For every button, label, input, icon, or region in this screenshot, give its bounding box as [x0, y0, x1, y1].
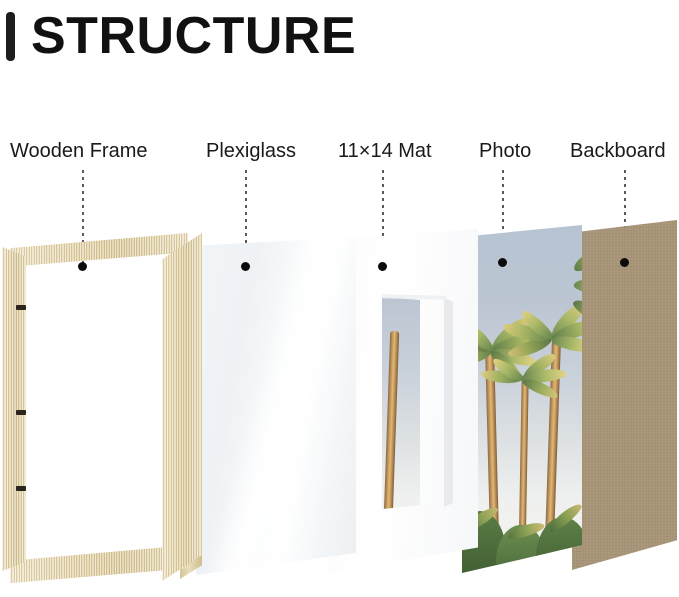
mat-bevel-right: [444, 298, 453, 507]
callout-dot-wooden-frame[interactable]: [78, 262, 87, 271]
page-title: STRUCTURE: [31, 5, 356, 67]
frame-clip[interactable]: [16, 305, 26, 310]
page-title-row: STRUCTURE: [0, 6, 679, 68]
exploded-parts-group: [0, 215, 679, 597]
label-backboard: Backboard: [570, 140, 666, 163]
label-mat: 11×14 Mat: [338, 140, 432, 163]
label-photo: Photo: [479, 140, 531, 163]
callout-dot-mat[interactable]: [378, 262, 387, 271]
label-plexiglass: Plexiglass: [206, 140, 296, 163]
mat-window-opening: [382, 297, 448, 509]
frame-rail-left: [2, 247, 26, 571]
callout-dot-photo[interactable]: [498, 258, 507, 267]
title-accent-bar: [6, 12, 15, 61]
part-wooden-frame[interactable]: [2, 233, 202, 583]
callout-dot-plexiglass[interactable]: [241, 262, 250, 271]
plexiglass-sheen: [196, 237, 356, 575]
frame-clip[interactable]: [16, 410, 26, 415]
backboard-texture: [572, 220, 677, 570]
callout-dot-backboard[interactable]: [620, 258, 629, 267]
part-photo[interactable]: [462, 225, 582, 573]
frame-rail-right: [162, 233, 202, 581]
diagram-canvas: STRUCTURE Wooden Frame Plexiglass 11×14 …: [0, 0, 679, 597]
label-wooden-frame: Wooden Frame: [10, 140, 147, 163]
frame-clip[interactable]: [16, 486, 26, 491]
frame-opening: [24, 257, 166, 557]
